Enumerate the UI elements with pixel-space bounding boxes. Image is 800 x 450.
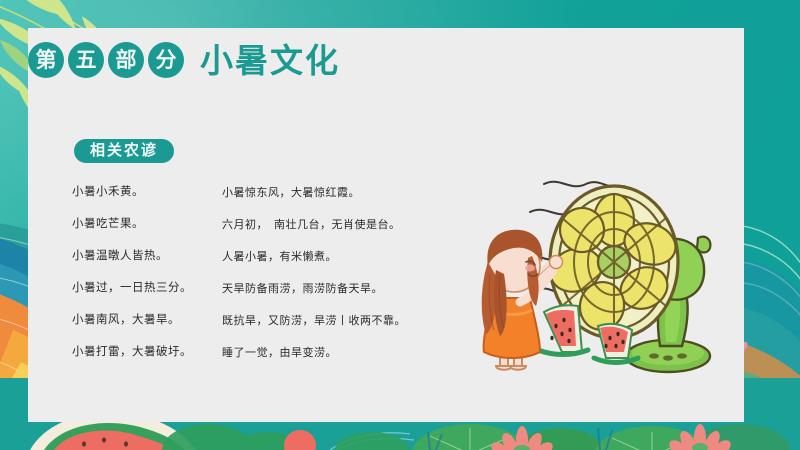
title-badge-2: 五 xyxy=(68,42,104,78)
section-pill-label: 相关农谚 xyxy=(74,139,174,163)
proverb-item: 小暑小禾黄。 xyxy=(72,176,222,208)
title-heading: 小暑文化 xyxy=(200,44,340,77)
proverb-item: 既抗旱，又防涝，旱涝丨收两不靠。 xyxy=(222,304,492,336)
slide: 第 五 部 分 小暑文化 相关农谚 小暑小禾黄。 小暑惊东风，大暑惊红霞。 小暑… xyxy=(0,0,800,450)
title-badge-1: 第 xyxy=(28,42,64,78)
proverb-item: 六月初， 南壮几台，无肖使是台。 xyxy=(222,208,492,240)
proverb-item: 天旱防备雨涝，雨涝防备天旱。 xyxy=(222,272,492,304)
proverb-list: 小暑小禾黄。 小暑惊东风，大暑惊红霞。 小暑吃芒果。 六月初， 南壮几台，无肖使… xyxy=(72,176,492,368)
page-title: 第 五 部 分 小暑文化 xyxy=(28,42,340,78)
proverb-item: 小暑吃芒果。 xyxy=(72,208,222,240)
proverb-item: 小暑过，一日热三分。 xyxy=(72,272,222,304)
proverb-item: 小暑南风，大暑旱。 xyxy=(72,304,222,336)
proverb-item: 人暑小暑，有米懒煮。 xyxy=(222,240,492,272)
title-badge-3: 部 xyxy=(108,42,144,78)
proverb-item: 小暑温暾人皆热。 xyxy=(72,240,222,272)
proverb-item: 小暑惊东风，大暑惊红霞。 xyxy=(222,176,492,208)
proverb-item: 睡了一觉，由旱变涝。 xyxy=(222,336,492,368)
proverb-item: 小暑打雷，大暑破圩。 xyxy=(72,336,222,368)
title-badge-4: 分 xyxy=(148,42,184,78)
illustration-girl-with-fan xyxy=(470,170,730,385)
